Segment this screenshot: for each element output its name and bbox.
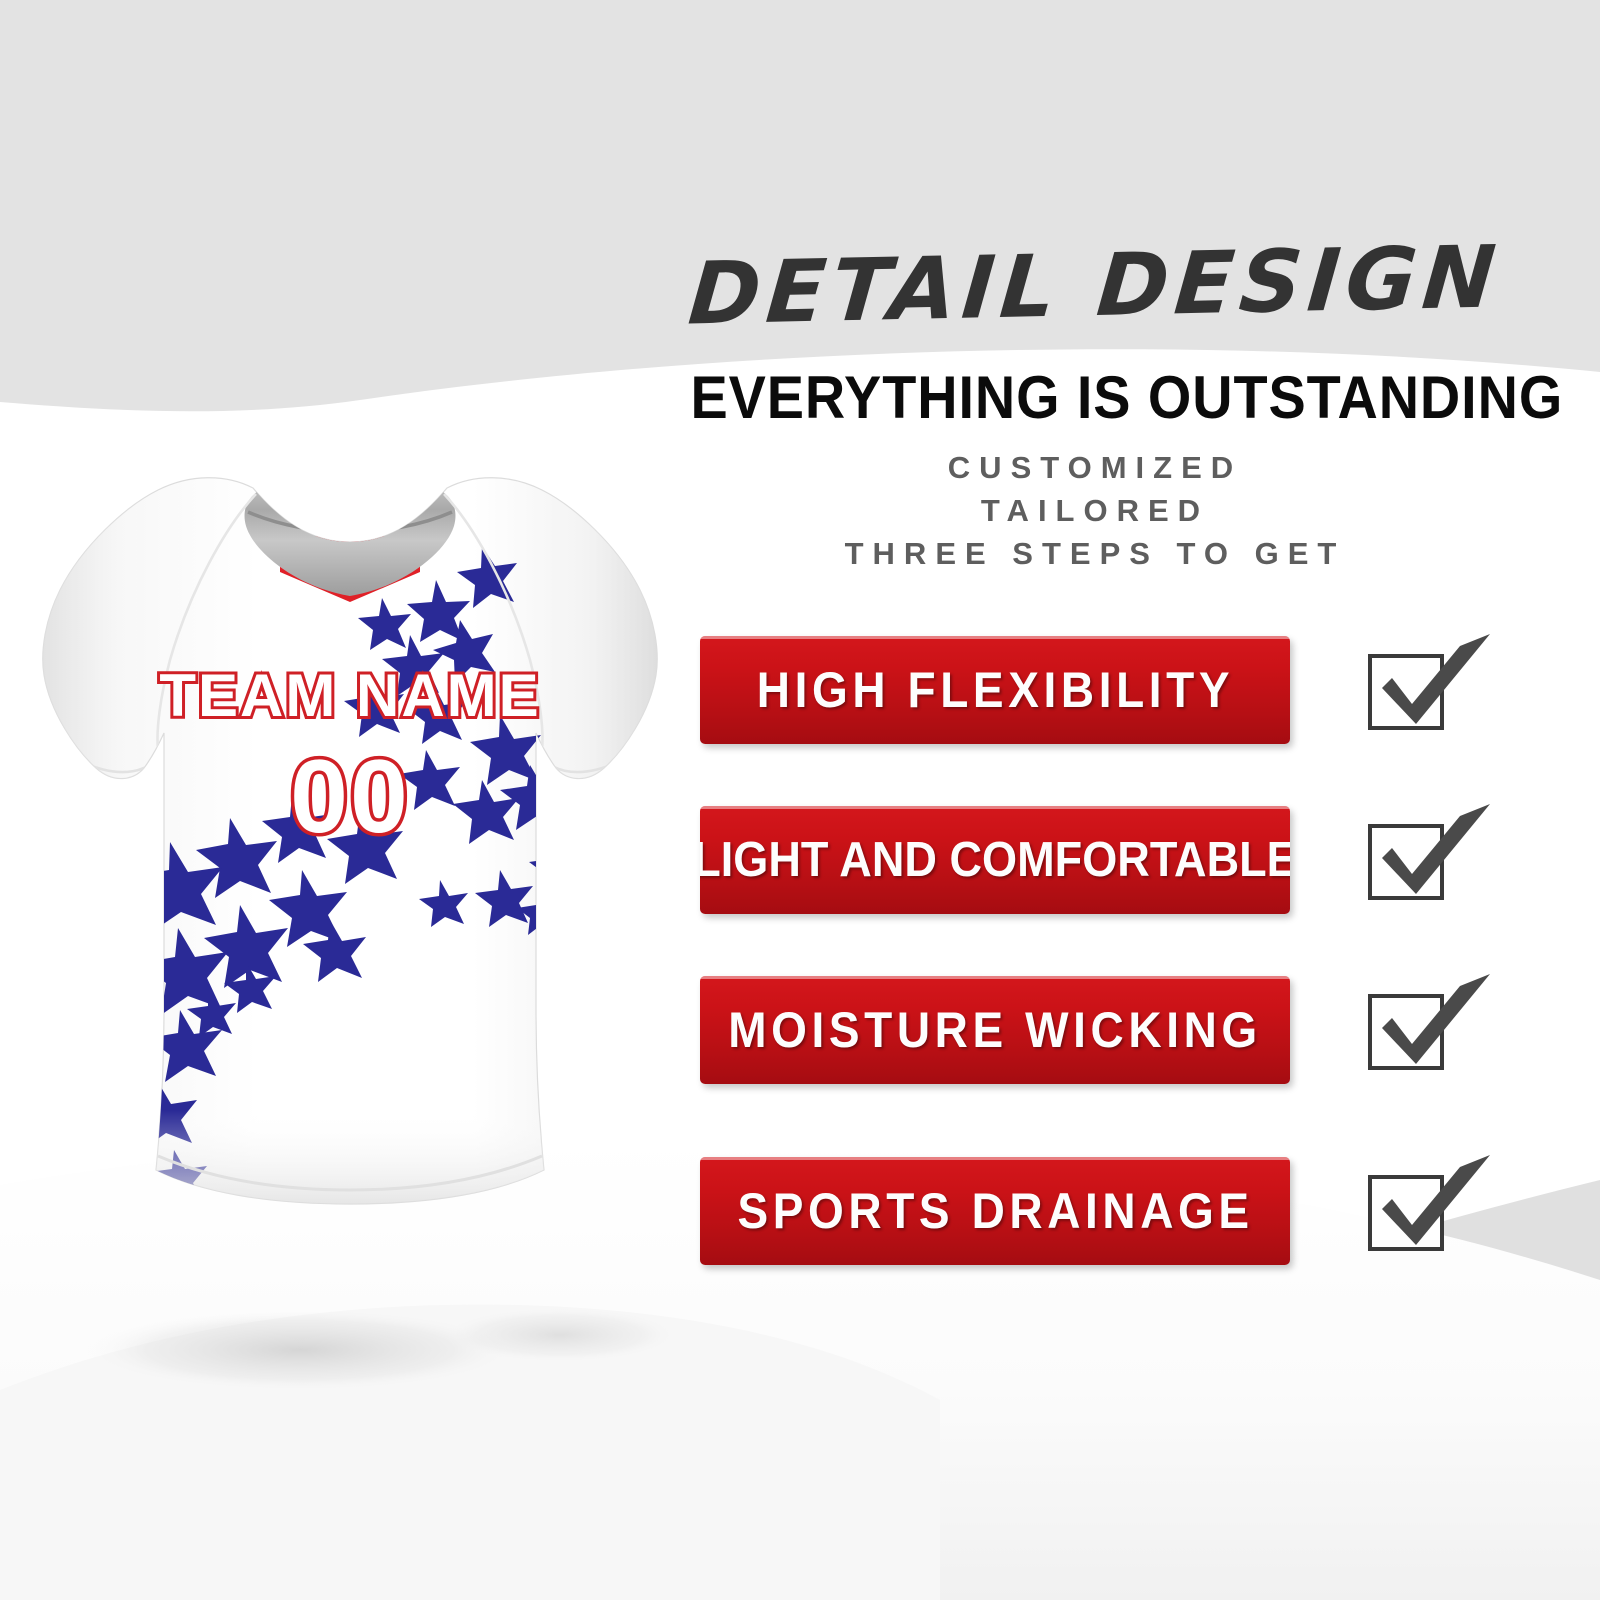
feature-bar-high-flexibility[interactable]: HIGH FLEXIBILITY [700,636,1290,744]
jersey-sleeve-shade-right [550,450,670,850]
checkmark-icon [1352,796,1502,916]
jersey-illustration: TEAM NAME 00 [30,450,670,1240]
jersey-hem-shade [130,1110,570,1210]
feature-checkbox[interactable] [1352,634,1500,746]
product-shadow-secondary [440,1307,680,1363]
feature-label: MOISTURE WICKING [728,1001,1262,1059]
jersey-number: 00 [290,739,410,855]
feature-label: HIGH FLEXIBILITY [757,661,1234,719]
feature-label: LIGHT AND COMFORTABLE [700,832,1290,888]
jersey-sleeve-shade-left [30,450,150,850]
tagline-three-steps: THREE STEPS TO GET [660,536,1530,572]
jersey-collar-outer-edge [254,468,446,488]
product-image-jersey: TEAM NAME 00 [30,450,670,1240]
feature-row: MOISTURE WICKING [700,974,1500,1086]
product-shadow [80,1308,520,1392]
feature-label: SPORTS DRAINAGE [737,1182,1253,1240]
feature-row: HIGH FLEXIBILITY [700,634,1500,746]
page-title: DETAIL DESIGN [656,234,1535,338]
feature-checkbox[interactable] [1352,804,1500,916]
tagline-customized: CUSTOMIZED [660,450,1530,486]
checkmark-icon [1352,1147,1502,1267]
marketing-copy-panel: DETAIL DESIGN EVERYTHING IS OUTSTANDING … [660,0,1600,1600]
checkmark-icon [1352,626,1502,746]
feature-bar-moisture-wicking[interactable]: MOISTURE WICKING [700,976,1290,1084]
feature-bar-light-and-comfortable[interactable]: LIGHT AND COMFORTABLE [700,806,1290,914]
jersey-team-name: TEAM NAME [159,662,540,729]
feature-row: LIGHT AND COMFORTABLE [700,804,1500,916]
feature-checkbox[interactable] [1352,1155,1500,1267]
checkmark-icon [1352,966,1502,1086]
feature-checkbox[interactable] [1352,974,1500,1086]
tagline-tailored: TAILORED [660,493,1530,529]
product-detail-banner: TEAM NAME 00 DETAIL DESIGN EVERYTHING IS… [0,0,1600,1600]
page-subtitle: EVERYTHING IS OUTSTANDING [690,368,1499,428]
feature-row: SPORTS DRAINAGE [700,1155,1500,1267]
feature-bar-sports-drainage[interactable]: SPORTS DRAINAGE [700,1157,1290,1265]
